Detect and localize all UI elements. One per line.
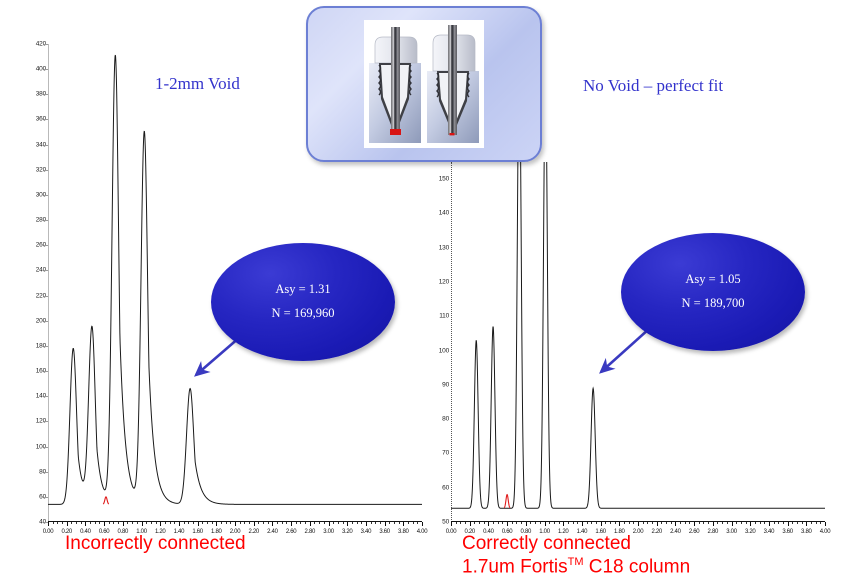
x-tick-minor [699, 522, 700, 524]
x-tick [750, 522, 751, 526]
x-tick-minor [286, 522, 287, 524]
y-tick-label: 70 [442, 450, 449, 457]
x-tick-label: 3.60 [782, 529, 792, 535]
fitting-cutaway-svg [365, 21, 483, 147]
callout-right-metrics: Asy = 1.05 N = 189,700 [621, 233, 805, 351]
x-tick-label: 3.40 [361, 529, 371, 535]
x-tick [366, 522, 367, 526]
x-tick [422, 522, 423, 526]
x-tick-minor [319, 522, 320, 524]
x-tick-label: 2.40 [267, 529, 277, 535]
x-tick-minor [530, 522, 531, 524]
x-tick-minor [717, 522, 718, 524]
x-tick-minor [516, 522, 517, 524]
x-tick-minor [811, 522, 812, 524]
callout-left-asymmetry: Asy = 1.31 [275, 278, 330, 302]
red-baseline-marker [504, 495, 510, 508]
column-name-prefix: 1.7um Fortis [462, 556, 568, 577]
y-tick-label: 140 [439, 210, 449, 217]
x-tick-minor [587, 522, 588, 524]
x-tick [329, 522, 330, 526]
y-tick-label: 50 [442, 519, 449, 526]
x-tick-label: 2.80 [708, 529, 718, 535]
x-tick-minor [226, 522, 227, 524]
column-fitting-diagram-icon [364, 20, 484, 148]
x-tick-minor [53, 522, 54, 524]
x-tick-minor [137, 522, 138, 524]
x-tick-minor [540, 522, 541, 524]
x-tick-minor [652, 522, 653, 524]
x-tick-minor [361, 522, 362, 524]
x-tick-label: 4.00 [820, 529, 830, 535]
x-tick [291, 522, 292, 526]
slide-canvas: 4060801001201401601802002202402602803003… [0, 0, 847, 579]
x-tick-minor [109, 522, 110, 524]
x-tick-minor [230, 522, 231, 524]
x-tick [488, 522, 489, 526]
x-tick-minor [417, 522, 418, 524]
column-fitting-inset-panel [306, 6, 542, 162]
x-tick-minor [479, 522, 480, 524]
x-tick [179, 522, 180, 526]
x-tick [403, 522, 404, 526]
left-chart-heading: 1-2mm Void [155, 74, 240, 94]
x-tick [123, 522, 124, 526]
x-tick [619, 522, 620, 526]
column-name-suffix: C18 column [583, 556, 690, 577]
x-tick-minor [596, 522, 597, 524]
x-tick [545, 522, 546, 526]
x-tick-label: 2.00 [633, 529, 643, 535]
x-tick [451, 522, 452, 526]
y-tick-label: 110 [439, 313, 449, 320]
x-tick-label: 2.40 [670, 529, 680, 535]
x-tick [526, 522, 527, 526]
x-tick-minor [258, 522, 259, 524]
x-tick-label: 3.20 [342, 529, 352, 535]
x-tick-minor [95, 522, 96, 524]
x-tick-minor [81, 522, 82, 524]
x-tick-minor [188, 522, 189, 524]
x-tick-minor [666, 522, 667, 524]
x-tick-minor [282, 522, 283, 524]
x-tick-minor [408, 522, 409, 524]
x-tick-minor [268, 522, 269, 524]
x-tick-minor [680, 522, 681, 524]
x-tick-minor [484, 522, 485, 524]
y-tick-label: 100 [439, 347, 449, 354]
x-tick-minor [820, 522, 821, 524]
x-tick-minor [736, 522, 737, 524]
y-tick-label: 90 [442, 381, 449, 388]
x-tick-minor [661, 522, 662, 524]
x-tick-minor [760, 522, 761, 524]
x-tick-minor [460, 522, 461, 524]
x-tick [310, 522, 311, 526]
y-axis-labels-right: 5060708090100110120130140150 [425, 162, 451, 522]
x-tick-minor [338, 522, 339, 524]
caption-correctly-connected: Correctly connected [462, 533, 631, 555]
chromatogram-trace-right [451, 162, 825, 522]
x-tick-minor [610, 522, 611, 524]
x-tick-label: 3.00 [323, 529, 333, 535]
x-tick [675, 522, 676, 526]
x-tick-minor [165, 522, 166, 524]
x-tick-minor [629, 522, 630, 524]
x-tick [235, 522, 236, 526]
callout-right-plates: N = 189,700 [682, 292, 745, 316]
x-tick [769, 522, 770, 526]
x-tick-minor [57, 522, 58, 524]
x-tick-minor [474, 522, 475, 524]
x-tick [638, 522, 639, 526]
x-tick-minor [816, 522, 817, 524]
x-tick-minor [722, 522, 723, 524]
x-tick-minor [212, 522, 213, 524]
x-tick-minor [146, 522, 147, 524]
x-tick-minor [202, 522, 203, 524]
x-tick-minor [797, 522, 798, 524]
red-baseline-marker [103, 497, 109, 504]
x-tick-minor [174, 522, 175, 524]
callout-left-plates: N = 169,960 [272, 302, 335, 326]
x-tick-minor [456, 522, 457, 524]
x-tick [507, 522, 508, 526]
x-tick-minor [727, 522, 728, 524]
x-tick-minor [240, 522, 241, 524]
fitting-with-void [369, 27, 421, 143]
x-tick-minor [577, 522, 578, 524]
x-tick-label: 2.60 [689, 529, 699, 535]
x-tick-minor [493, 522, 494, 524]
x-tick-minor [394, 522, 395, 524]
x-tick-minor [324, 522, 325, 524]
x-tick-minor [554, 522, 555, 524]
x-tick-minor [521, 522, 522, 524]
x-tick-minor [465, 522, 466, 524]
x-tick-label: 2.60 [286, 529, 296, 535]
x-axis-line-right: 0.000.200.400.600.801.001.201.401.601.80… [451, 521, 825, 522]
x-tick-minor [389, 522, 390, 524]
x-tick-minor [783, 522, 784, 524]
x-tick [582, 522, 583, 526]
callout-left-metrics: Asy = 1.31 N = 169,960 [211, 243, 395, 361]
y-tick-label: 130 [439, 244, 449, 251]
x-tick [254, 522, 255, 526]
chart-right-chromatogram: 5060708090100110120130140150 0.000.200.4… [425, 162, 825, 522]
x-tick-minor [703, 522, 704, 524]
x-tick [788, 522, 789, 526]
x-tick-minor [221, 522, 222, 524]
x-axis-line-left: 0.000.200.400.600.801.001.201.401.601.80… [48, 521, 422, 522]
x-tick-minor [498, 522, 499, 524]
x-tick-minor [755, 522, 756, 524]
x-tick-minor [643, 522, 644, 524]
x-tick-minor [371, 522, 372, 524]
x-tick-minor [535, 522, 536, 524]
x-tick [713, 522, 714, 526]
x-tick-minor [591, 522, 592, 524]
x-tick-minor [184, 522, 185, 524]
x-tick-minor [689, 522, 690, 524]
x-tick [67, 522, 68, 526]
x-tick-minor [573, 522, 574, 524]
x-tick [216, 522, 217, 526]
x-tick-minor [802, 522, 803, 524]
x-tick-minor [156, 522, 157, 524]
y-tick-label: 120 [439, 279, 449, 286]
x-tick-minor [352, 522, 353, 524]
x-tick-minor [314, 522, 315, 524]
y-tick-label: 80 [442, 416, 449, 423]
x-tick [825, 522, 826, 526]
fitting-no-void [427, 25, 479, 143]
plot-area-right: 5060708090100110120130140150 0.000.200.4… [425, 162, 825, 522]
x-tick-minor [774, 522, 775, 524]
x-tick [694, 522, 695, 526]
x-tick-label: 3.80 [398, 529, 408, 535]
x-tick-minor [549, 522, 550, 524]
x-tick-minor [568, 522, 569, 524]
x-tick [385, 522, 386, 526]
x-tick [160, 522, 161, 526]
x-tick-minor [151, 522, 152, 524]
x-tick-minor [207, 522, 208, 524]
x-tick-minor [746, 522, 747, 524]
x-tick [657, 522, 658, 526]
x-tick-minor [633, 522, 634, 524]
x-tick-minor [671, 522, 672, 524]
x-tick-minor [277, 522, 278, 524]
x-tick [806, 522, 807, 526]
x-tick-minor [647, 522, 648, 524]
x-tick-label: 2.20 [651, 529, 661, 535]
x-tick-label: 3.20 [745, 529, 755, 535]
x-tick [563, 522, 564, 526]
x-tick-minor [343, 522, 344, 524]
x-tick-minor [605, 522, 606, 524]
x-tick-minor [244, 522, 245, 524]
right-chart-heading: No Void – perfect fit [583, 76, 723, 96]
x-tick-minor [512, 522, 513, 524]
x-tick-minor [778, 522, 779, 524]
caption-column-description: 1.7um FortisTM C18 column [462, 556, 690, 578]
x-tick [48, 522, 49, 526]
y-axis-labels-left: 4060801001201401601802002202402602803003… [22, 44, 48, 522]
x-tick-label: 3.60 [379, 529, 389, 535]
y-tick-label: 150 [439, 176, 449, 183]
x-tick-minor [300, 522, 301, 524]
x-tick-minor [296, 522, 297, 524]
x-tick-minor [90, 522, 91, 524]
x-tick-minor [375, 522, 376, 524]
x-tick-minor [380, 522, 381, 524]
x-tick-minor [127, 522, 128, 524]
x-tick [732, 522, 733, 526]
x-tick [347, 522, 348, 526]
x-tick [85, 522, 86, 526]
x-tick-minor [559, 522, 560, 524]
x-tick [142, 522, 143, 526]
x-tick-label: 0.00 [446, 529, 456, 535]
callout-right-asymmetry: Asy = 1.05 [685, 268, 740, 292]
x-tick-minor [413, 522, 414, 524]
x-tick-minor [305, 522, 306, 524]
x-tick-minor [399, 522, 400, 524]
x-tick-minor [263, 522, 264, 524]
x-tick [104, 522, 105, 526]
x-tick-minor [118, 522, 119, 524]
caption-incorrectly-connected: Incorrectly connected [65, 533, 246, 555]
x-tick-minor [357, 522, 358, 524]
x-tick [198, 522, 199, 526]
x-tick-label: 0.00 [43, 529, 53, 535]
x-tick [272, 522, 273, 526]
x-tick-minor [502, 522, 503, 524]
x-tick-minor [132, 522, 133, 524]
x-tick-minor [764, 522, 765, 524]
x-tick-label: 2.80 [305, 529, 315, 535]
x-tick-minor [113, 522, 114, 524]
x-tick-label: 2.20 [248, 529, 258, 535]
x-tick-minor [170, 522, 171, 524]
x-tick-minor [249, 522, 250, 524]
x-tick [470, 522, 471, 526]
x-tick-minor [76, 522, 77, 524]
x-tick-minor [741, 522, 742, 524]
x-tick-label: 4.00 [417, 529, 427, 535]
trademark-symbol: TM [568, 556, 584, 568]
x-tick-minor [71, 522, 72, 524]
x-tick-minor [193, 522, 194, 524]
void-gap-marker [390, 129, 401, 135]
x-tick-minor [333, 522, 334, 524]
x-tick-label: 3.40 [764, 529, 774, 535]
x-tick-minor [792, 522, 793, 524]
x-tick-minor [624, 522, 625, 524]
no-gap-marker [450, 133, 455, 135]
x-tick-minor [99, 522, 100, 524]
x-tick [601, 522, 602, 526]
x-tick-minor [62, 522, 63, 524]
x-tick-minor [615, 522, 616, 524]
x-tick-minor [685, 522, 686, 524]
x-tick-minor [708, 522, 709, 524]
x-tick-label: 3.80 [801, 529, 811, 535]
y-tick-label: 60 [442, 484, 449, 491]
x-tick-label: 3.00 [726, 529, 736, 535]
